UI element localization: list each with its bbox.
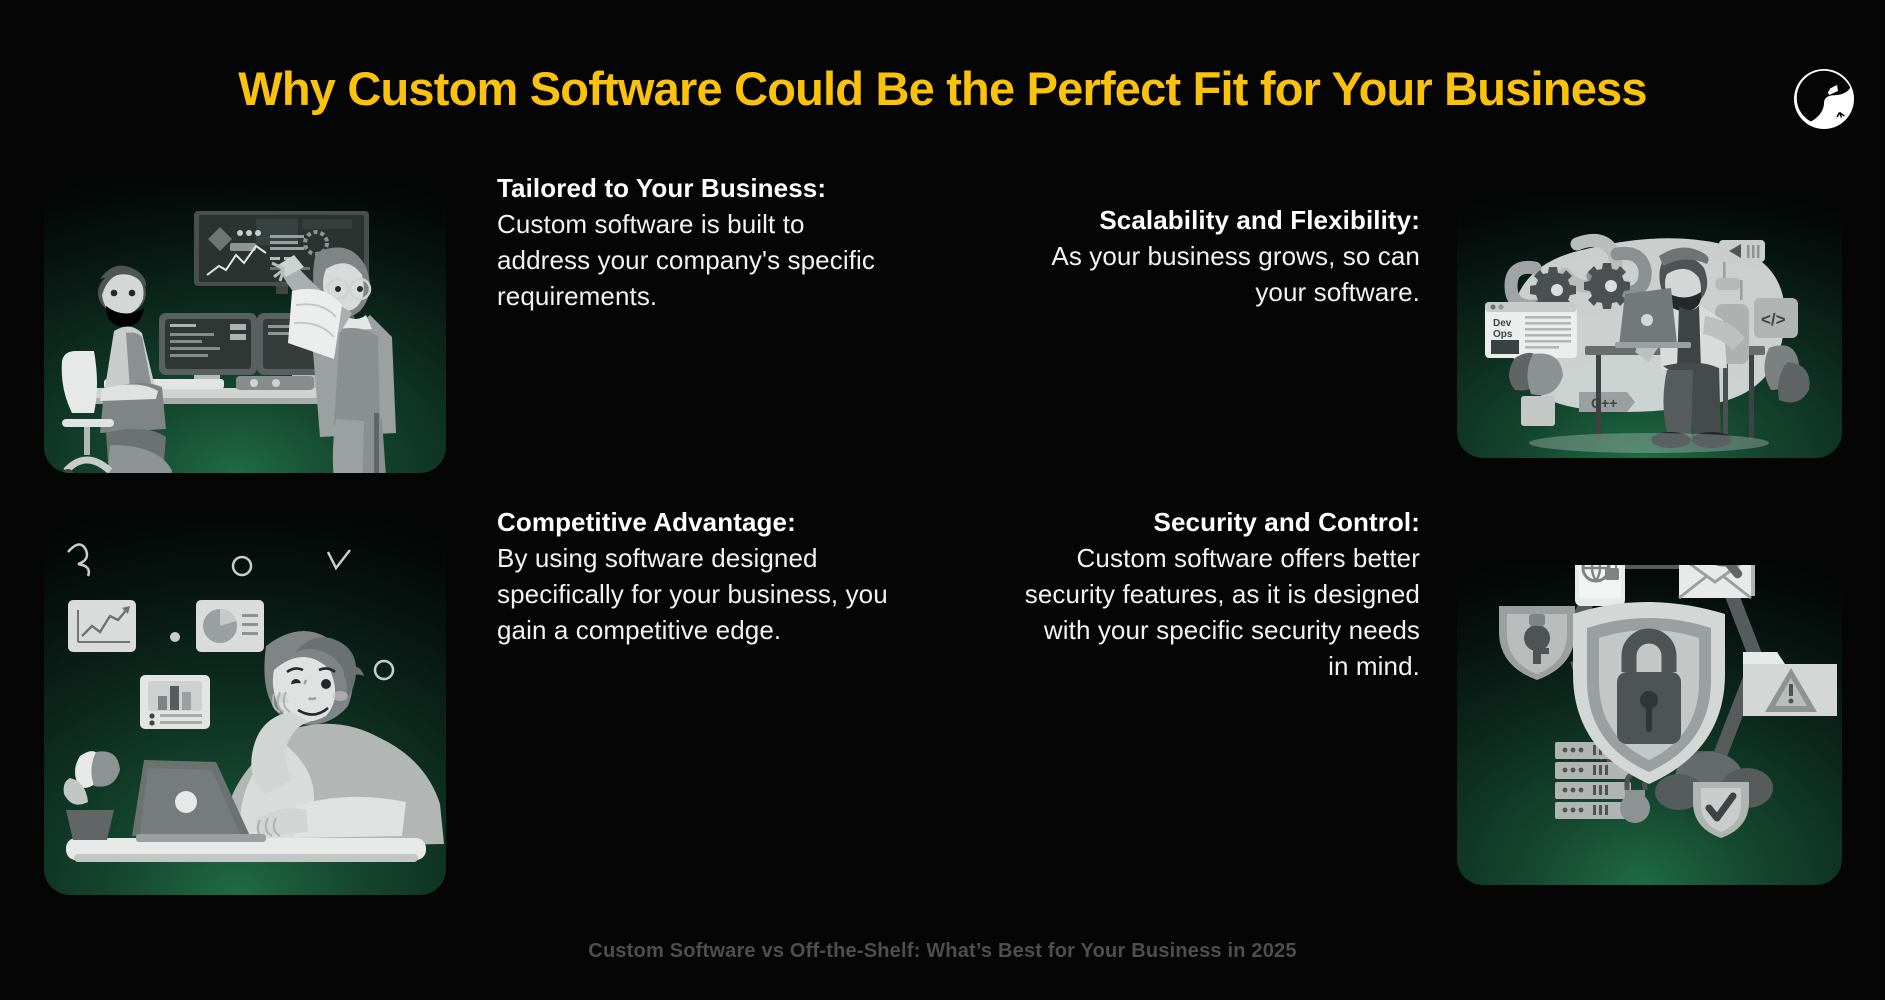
text-block-tailored: Tailored to Your Business: Custom softwa… xyxy=(497,170,897,314)
card-heading-security: Security and Control: xyxy=(1020,504,1420,540)
card-heading-scalability: Scalability and Flexibility: xyxy=(1020,202,1420,238)
text-block-security: Security and Control: Custom software of… xyxy=(1020,504,1420,684)
devops-label-dev: Dev xyxy=(1493,318,1512,329)
header: Why Custom Software Could Be the Perfect… xyxy=(0,60,1885,140)
developers-at-desk-illustration xyxy=(44,183,446,473)
security-shield-network-illustration xyxy=(1457,565,1842,885)
thinking-person-with-laptop-illustration xyxy=(44,520,446,895)
text-block-competitive: Competitive Advantage: By using software… xyxy=(497,504,897,648)
benefits-grid: Tailored to Your Business: Custom softwa… xyxy=(0,170,1885,910)
footer-caption: Custom Software vs Off-the-Shelf: What’s… xyxy=(0,940,1885,963)
cpp-tag-label: C++ xyxy=(1591,395,1617,411)
devops-engineer-illustration: Dev Ops </> xyxy=(1457,198,1842,458)
infographic-page: Why Custom Software Could Be the Perfect… xyxy=(0,0,1885,1000)
card-body-scalability: As your business grows, so can your soft… xyxy=(1020,238,1420,310)
code-tag-label: </> xyxy=(1761,310,1786,329)
card-heading-competitive: Competitive Advantage: xyxy=(497,504,897,540)
card-image-competitive xyxy=(44,520,446,895)
devops-label-ops: Ops xyxy=(1493,329,1513,340)
card-heading-tailored: Tailored to Your Business: xyxy=(497,170,897,206)
brand-logo-icon[interactable] xyxy=(1791,66,1857,132)
card-body-tailored: Custom software is built to address your… xyxy=(497,206,897,314)
card-image-tailored xyxy=(44,183,446,473)
card-image-scalability: Dev Ops </> xyxy=(1457,198,1842,458)
page-title: Why Custom Software Could Be the Perfect… xyxy=(0,60,1885,118)
card-body-competitive: By using software designed specifically … xyxy=(497,540,897,648)
card-image-security xyxy=(1457,565,1842,885)
text-block-scalability: Scalability and Flexibility: As your bus… xyxy=(1020,202,1420,310)
card-body-security: Custom software offers better security f… xyxy=(1020,540,1420,684)
